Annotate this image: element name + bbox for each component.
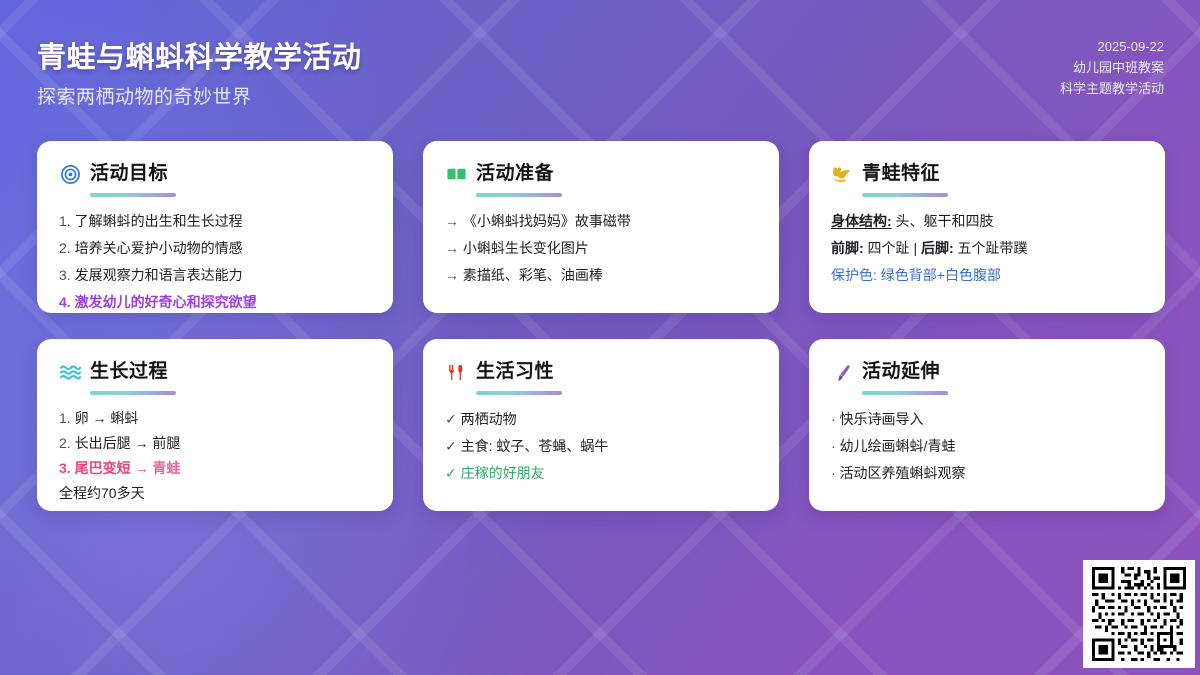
- feature-label: 身体结构:: [831, 213, 892, 229]
- title-underline-rule: [862, 391, 948, 395]
- title-underline-rule: [90, 391, 176, 395]
- list-text: 《小蝌蚪找妈妈》故事磁带: [463, 213, 631, 229]
- list-marker: 3.: [59, 267, 71, 283]
- list-item: → 小蝌蚪生长变化图片: [445, 235, 757, 262]
- list-marker: 2.: [59, 435, 71, 451]
- open-book-icon: [445, 163, 467, 185]
- card-title: 活动延伸: [862, 361, 940, 383]
- list-text: 主食: 蚊子、苍蝇、蜗牛: [461, 438, 609, 454]
- card-body: ✓ 两栖动物 ✓ 主食: 蚊子、苍蝇、蜗牛 ✓ 庄稼的好朋友: [445, 406, 757, 487]
- page-subtitle: 探索两栖动物的奇妙世界: [37, 82, 252, 109]
- list-text: 培养关心爱护小动物的情感: [75, 240, 243, 256]
- feature-row-feet: 前脚: 四个趾 | 后脚: 五个趾带蹼: [831, 235, 1143, 262]
- list-text: 卵 → 蝌蚪: [75, 410, 139, 426]
- card-header: 活动准备: [445, 161, 757, 187]
- list-text-result: 青蛙: [152, 460, 180, 476]
- feature-row-camouflage: 保护色: 绿色背部+白色腹部: [831, 262, 1143, 289]
- list-marker: →: [445, 240, 459, 256]
- title-underline-rule: [476, 193, 562, 197]
- list-marker: 4.: [59, 294, 71, 310]
- meta-category: 科学主题教学活动: [1060, 78, 1164, 99]
- check-marker: ✓: [445, 411, 457, 427]
- slide-root: 青蛙与蝌蚪科学教学活动 探索两栖动物的奇妙世界 2025-09-22 幼儿园中班…: [0, 0, 1200, 675]
- list-text: 尾巴变短 →: [75, 460, 153, 476]
- list-text: 快乐诗画导入: [840, 411, 924, 427]
- list-item: 3. 发展观察力和语言表达能力: [59, 262, 371, 289]
- title-underline-rule: [862, 193, 948, 197]
- feature-row-structure: 身体结构: 头、躯干和四肢: [831, 208, 1143, 235]
- card-grid: 活动目标 1. 了解蝌蚪的出生和生长过程 2. 培养关心爱护小动物的情感 3. …: [37, 141, 1165, 511]
- growth-duration: 全程约70多天: [59, 481, 371, 506]
- feature-value: 头、躯干和四肢: [892, 213, 994, 229]
- list-item: 2. 培养关心爱护小动物的情感: [59, 235, 371, 262]
- list-item: 1. 了解蝌蚪的出生和生长过程: [59, 208, 371, 235]
- list-marker: →: [445, 213, 459, 229]
- feature-label-hind-foot: 后脚:: [921, 240, 954, 256]
- meta-audience: 幼儿园中班教案: [1060, 57, 1164, 78]
- list-text: 发展观察力和语言表达能力: [75, 267, 243, 283]
- card-activity-goals: 活动目标 1. 了解蝌蚪的出生和生长过程 2. 培养关心爱护小动物的情感 3. …: [37, 141, 393, 313]
- card-activity-preparation: 活动准备 → 《小蝌蚪找妈妈》故事磁带 → 小蝌蚪生长变化图片 → 素描纸、彩笔…: [423, 141, 779, 313]
- list-item: ✓ 主食: 蚊子、苍蝇、蜗牛: [445, 433, 757, 460]
- bullet-marker: ·: [831, 438, 836, 454]
- wave-icon: [59, 361, 81, 383]
- list-text: 活动区养殖蝌蚪观察: [840, 465, 966, 481]
- list-marker: 1.: [59, 213, 71, 229]
- title-underline-rule: [476, 391, 562, 395]
- card-title: 活动准备: [476, 163, 554, 185]
- card-frog-features: 青蛙特征 身体结构: 头、躯干和四肢 前脚: 四个趾 | 后脚: 五个趾带蹼 保…: [809, 141, 1165, 313]
- frog-icon: [831, 163, 853, 185]
- list-item-highlight: ✓ 庄稼的好朋友: [445, 460, 757, 487]
- growth-duration-text: 全程约70多天: [59, 485, 145, 501]
- list-item: 1. 卵 → 蝌蚪: [59, 406, 371, 431]
- list-item-highlight: 3. 尾巴变短 → 青蛙: [59, 456, 371, 481]
- feature-value-front-foot: 四个趾 |: [864, 240, 921, 256]
- card-header: 活动延伸: [831, 359, 1143, 385]
- card-title: 生活习性: [476, 361, 554, 383]
- card-header: 活动目标: [59, 161, 371, 187]
- title-underline-rule: [90, 193, 176, 197]
- card-header: 生活习性: [445, 359, 757, 385]
- card-title: 生长过程: [90, 361, 168, 383]
- list-item-highlight: 4. 激发幼儿的好奇心和探究欲望: [59, 289, 371, 313]
- list-text: 长出后腿 → 前腿: [75, 435, 181, 451]
- list-text: 素描纸、彩笔、油画棒: [463, 267, 603, 283]
- qr-code[interactable]: [1083, 560, 1195, 668]
- list-item: ✓ 两栖动物: [445, 406, 757, 433]
- card-body: 1. 卵 → 蝌蚪 2. 长出后腿 → 前腿 3. 尾巴变短 → 青蛙 全程约7…: [59, 406, 371, 506]
- card-title: 活动目标: [90, 163, 168, 185]
- list-marker: →: [445, 267, 459, 283]
- list-item: · 活动区养殖蝌蚪观察: [831, 460, 1143, 487]
- card-activity-extension: 活动延伸 · 快乐诗画导入 · 幼儿绘画蝌蚪/青蛙 · 活动区养殖蝌蚪观察: [809, 339, 1165, 511]
- list-marker: 3.: [59, 460, 71, 476]
- card-body: · 快乐诗画导入 · 幼儿绘画蝌蚪/青蛙 · 活动区养殖蝌蚪观察: [831, 406, 1143, 487]
- list-text: 小蝌蚪生长变化图片: [463, 240, 589, 256]
- feature-value-hind-foot: 五个趾带蹼: [954, 240, 1028, 256]
- list-text: 两栖动物: [461, 411, 517, 427]
- list-marker: 2.: [59, 240, 71, 256]
- list-item: · 快乐诗画导入: [831, 406, 1143, 433]
- paintbrush-icon: [831, 361, 853, 383]
- bullet-marker: ·: [831, 411, 836, 427]
- header-meta: 2025-09-22 幼儿园中班教案 科学主题教学活动: [1060, 36, 1164, 99]
- list-item: → 素描纸、彩笔、油画棒: [445, 262, 757, 289]
- check-marker: ✓: [445, 465, 457, 481]
- list-item: 2. 长出后腿 → 前腿: [59, 431, 371, 456]
- card-body: 身体结构: 头、躯干和四肢 前脚: 四个趾 | 后脚: 五个趾带蹼 保护色: 绿…: [831, 208, 1143, 289]
- check-marker: ✓: [445, 438, 457, 454]
- fork-knife-icon: [445, 361, 467, 383]
- feature-text: 保护色: 绿色背部+白色腹部: [831, 267, 1001, 283]
- list-marker: 1.: [59, 410, 71, 426]
- list-item: → 《小蝌蚪找妈妈》故事磁带: [445, 208, 757, 235]
- card-header: 青蛙特征: [831, 161, 1143, 187]
- card-body: 1. 了解蝌蚪的出生和生长过程 2. 培养关心爱护小动物的情感 3. 发展观察力…: [59, 208, 371, 313]
- meta-date: 2025-09-22: [1060, 36, 1164, 57]
- list-text: 庄稼的好朋友: [461, 465, 545, 481]
- slide-header: 青蛙与蝌蚪科学教学活动 探索两栖动物的奇妙世界 2025-09-22 幼儿园中班…: [0, 0, 1200, 128]
- card-title: 青蛙特征: [862, 163, 940, 185]
- card-header: 生长过程: [59, 359, 371, 385]
- list-text: 了解蝌蚪的出生和生长过程: [75, 213, 243, 229]
- card-living-habits: 生活习性 ✓ 两栖动物 ✓ 主食: 蚊子、苍蝇、蜗牛 ✓ 庄稼的好朋友: [423, 339, 779, 511]
- list-text: 幼儿绘画蝌蚪/青蛙: [840, 438, 956, 454]
- qr-code-matrix: [1090, 567, 1188, 661]
- feature-label-front-foot: 前脚:: [831, 240, 864, 256]
- page-title: 青蛙与蝌蚪科学教学活动: [37, 34, 362, 76]
- list-item: · 幼儿绘画蝌蚪/青蛙: [831, 433, 1143, 460]
- bullet-marker: ·: [831, 465, 836, 481]
- card-growth-process: 生长过程 1. 卵 → 蝌蚪 2. 长出后腿 → 前腿 3. 尾巴变短 → 青蛙…: [37, 339, 393, 511]
- target-icon: [59, 163, 81, 185]
- card-body: → 《小蝌蚪找妈妈》故事磁带 → 小蝌蚪生长变化图片 → 素描纸、彩笔、油画棒: [445, 208, 757, 289]
- list-text: 激发幼儿的好奇心和探究欲望: [75, 294, 257, 310]
